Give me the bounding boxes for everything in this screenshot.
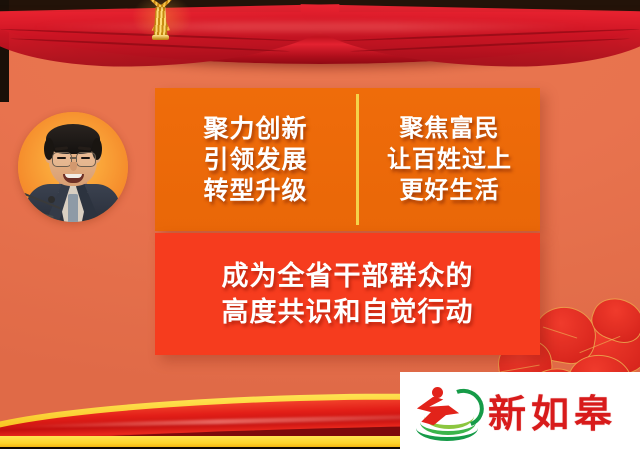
subhead-line: 高度共识和自觉行动: [222, 296, 474, 329]
headline-line: 引领发展: [203, 145, 307, 175]
headline-line: 更好生活: [400, 176, 500, 206]
gold-tassel-icon: [146, 0, 176, 44]
headline-line: 聚焦富民: [400, 114, 500, 144]
headline-column-left: 聚力创新 引领发展 转型升级: [155, 88, 356, 231]
subhead-line: 成为全省干部群众的: [222, 260, 474, 293]
eyeglasses-icon: [52, 152, 72, 167]
headline-panel: 聚力创新 引领发展 转型升级 聚焦富民 让百姓过上 更好生活: [155, 88, 540, 231]
headline-line: 聚力创新: [203, 114, 307, 144]
tassel-body: [153, 7, 168, 37]
logo-wordmark: 新如皋: [488, 383, 617, 438]
curtain-highlight: [30, 22, 590, 32]
xinrugao-logo-icon: [410, 385, 482, 437]
portrait-illustration: [18, 112, 128, 222]
logo-container[interactable]: 新如皋: [400, 372, 640, 449]
headline-line: 让百姓过上: [387, 145, 512, 175]
portrait-avatar: [18, 112, 128, 222]
curtain-decoration: [0, 12, 640, 74]
subhead-panel: 成为全省干部群众的 高度共识和自觉行动: [155, 233, 540, 355]
headline-line: 转型升级: [203, 176, 307, 206]
poster-canvas: 聚力创新 引领发展 转型升级 聚焦富民 让百姓过上 更好生活 成为全省干部群众的…: [0, 0, 640, 449]
headline-column-right: 聚焦富民 让百姓过上 更好生活: [359, 88, 540, 231]
tassel-ring: [152, 35, 169, 40]
